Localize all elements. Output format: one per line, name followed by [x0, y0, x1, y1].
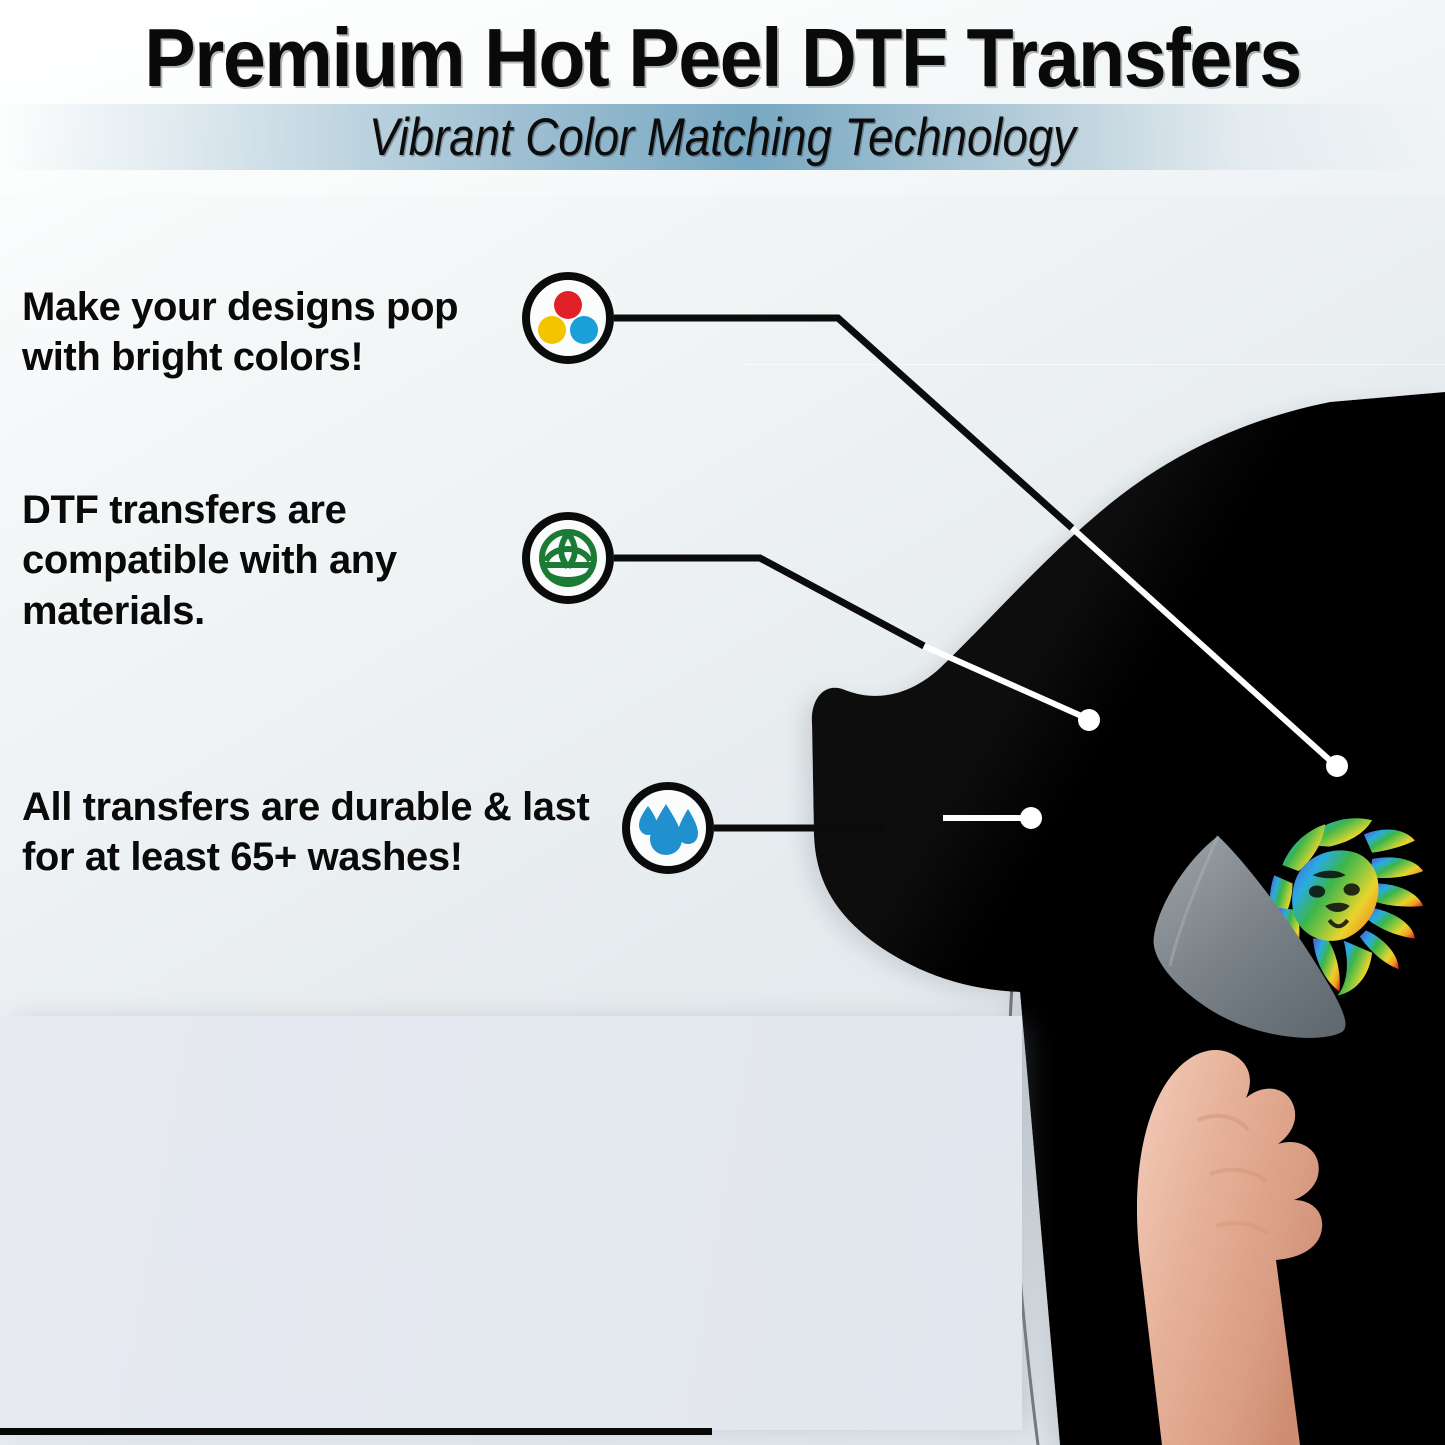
- water-drops-icon-glyph: [636, 798, 700, 858]
- page-subtitle: Vibrant Color Matching Technology: [101, 104, 1344, 170]
- color-dots-icon-glyph: [537, 289, 599, 347]
- connector-washes: [714, 807, 1042, 829]
- yarn-ball-icon-glyph: [537, 527, 599, 589]
- connector-colors: [614, 318, 1348, 777]
- header: Premium Hot Peel DTF Transfers Vibrant C…: [0, 0, 1445, 196]
- water-drops-icon: [622, 782, 714, 874]
- color-dots-icon: [522, 272, 614, 364]
- yarn-ball-icon: [522, 512, 614, 604]
- benefits-panel: [0, 1016, 1022, 1430]
- infographic-poster: Premium Hot Peel DTF Transfers Vibrant C…: [0, 0, 1445, 1445]
- feature-text-materials: DTF transfers are compatible with any ma…: [22, 485, 492, 636]
- feature-text-washes: All transfers are durable & last for at …: [22, 782, 622, 883]
- bottom-divider: [0, 1428, 712, 1435]
- connector-materials: [614, 558, 1100, 731]
- page-title: Premium Hot Peel DTF Transfers: [51, 10, 1395, 106]
- feature-text-colors: Make your designs pop with bright colors…: [22, 282, 522, 383]
